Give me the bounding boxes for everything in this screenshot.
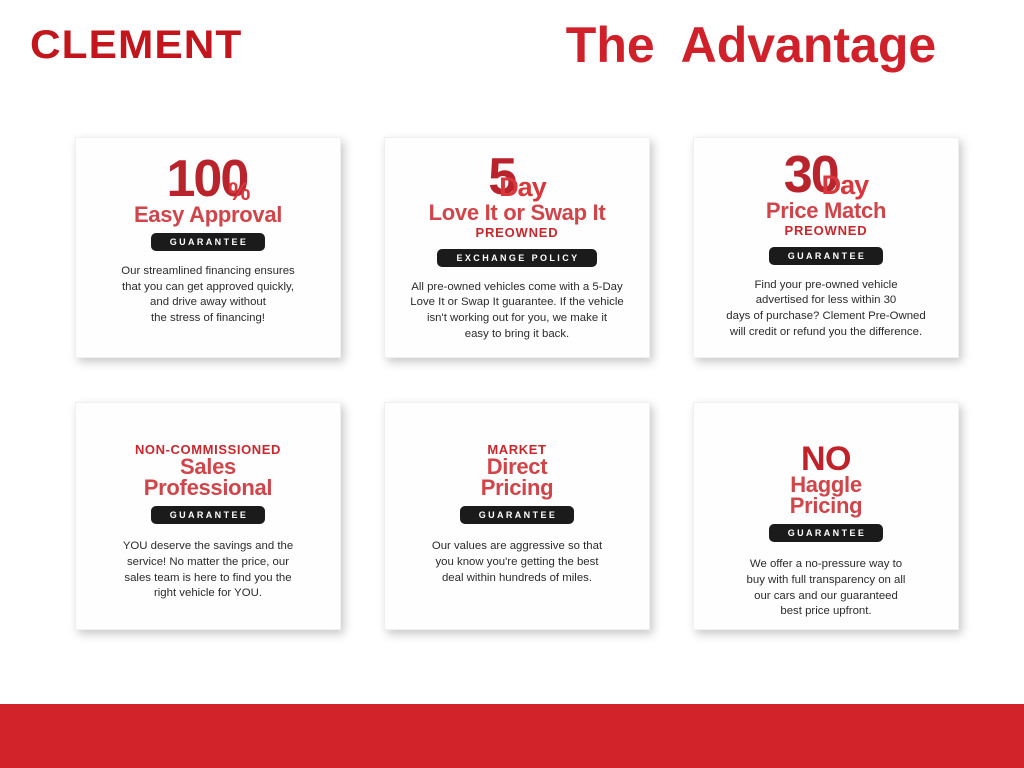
card-body-text: YOU deserve the savings and the service!…	[123, 539, 293, 602]
card-headline-block: NO Haggle Pricing	[790, 443, 862, 517]
guarantee-badge: GUARANTEE	[460, 506, 575, 524]
guarantee-badge: GUARANTEE	[769, 524, 884, 542]
guarantee-badge: GUARANTEE	[151, 233, 266, 251]
card-headline: Haggle Pricing	[790, 475, 862, 517]
advantage-card-direct-pricing[interactable]: MARKET Direct Pricing GUARANTEE Our valu…	[384, 402, 650, 630]
card-body-text: We offer a no-pressure way to buy with f…	[747, 557, 906, 620]
advantage-card-sales-professional[interactable]: NON-COMMISSIONED Sales Professional GUAR…	[75, 402, 341, 630]
advantage-card-price-match[interactable]: 30 Day Price Match PREOWNED GUARANTEE Fi…	[693, 137, 959, 358]
card-subline: PREOWNED	[476, 225, 559, 242]
page-title: The Advantage	[516, 18, 986, 73]
mega-word: NO	[801, 443, 851, 475]
card-headline-block: 100 % Easy Approval	[134, 156, 282, 226]
mega-suffix: Day	[822, 172, 869, 199]
card-headline: Price Match	[766, 200, 886, 222]
mega-suffix: Day	[499, 174, 546, 201]
mega-headline-row: 5 Day	[488, 154, 545, 202]
card-headline: Sales Professional	[144, 457, 272, 499]
advantage-card-no-haggle-pricing[interactable]: NO Haggle Pricing GUARANTEE We offer a n…	[693, 402, 959, 630]
card-headline: Easy Approval	[134, 204, 282, 226]
card-headline-block: 30 Day Price Match PREOWNED	[766, 152, 886, 240]
card-body-text: All pre-owned vehicles come with a 5-Day…	[410, 280, 623, 343]
card-body-text: Our streamlined financing ensures that y…	[121, 264, 294, 327]
card-headline-block: 5 Day Love It or Swap It PREOWNED	[429, 154, 606, 242]
advantage-card-grid: 100 % Easy Approval GUARANTEE Our stream…	[75, 137, 959, 630]
page-header: CLEMENT The Advantage	[0, 0, 1024, 100]
card-headline: Love It or Swap It	[429, 202, 606, 224]
card-subline: PREOWNED	[785, 223, 868, 240]
footer-accent-bar	[0, 704, 1024, 768]
mega-headline-row: 100 %	[167, 156, 250, 204]
card-headline: Direct Pricing	[481, 457, 553, 499]
card-headline-block: MARKET Direct Pricing	[481, 443, 553, 499]
advantage-card-easy-approval[interactable]: 100 % Easy Approval GUARANTEE Our stream…	[75, 137, 341, 358]
card-body-text: Our values are aggressive so that you kn…	[432, 539, 602, 586]
guarantee-badge: GUARANTEE	[769, 247, 884, 265]
advantage-card-love-it-or-swap-it[interactable]: 5 Day Love It or Swap It PREOWNED EXCHAN…	[384, 137, 650, 358]
card-body-text: Find your pre-owned vehicle advertised f…	[726, 278, 925, 341]
mega-headline-row: 30 Day	[784, 152, 868, 200]
card-headline-block: NON-COMMISSIONED Sales Professional	[135, 443, 281, 499]
guarantee-badge: GUARANTEE	[151, 506, 266, 524]
clement-logo: CLEMENT	[30, 25, 242, 65]
exchange-policy-badge: EXCHANGE POLICY	[437, 249, 596, 267]
